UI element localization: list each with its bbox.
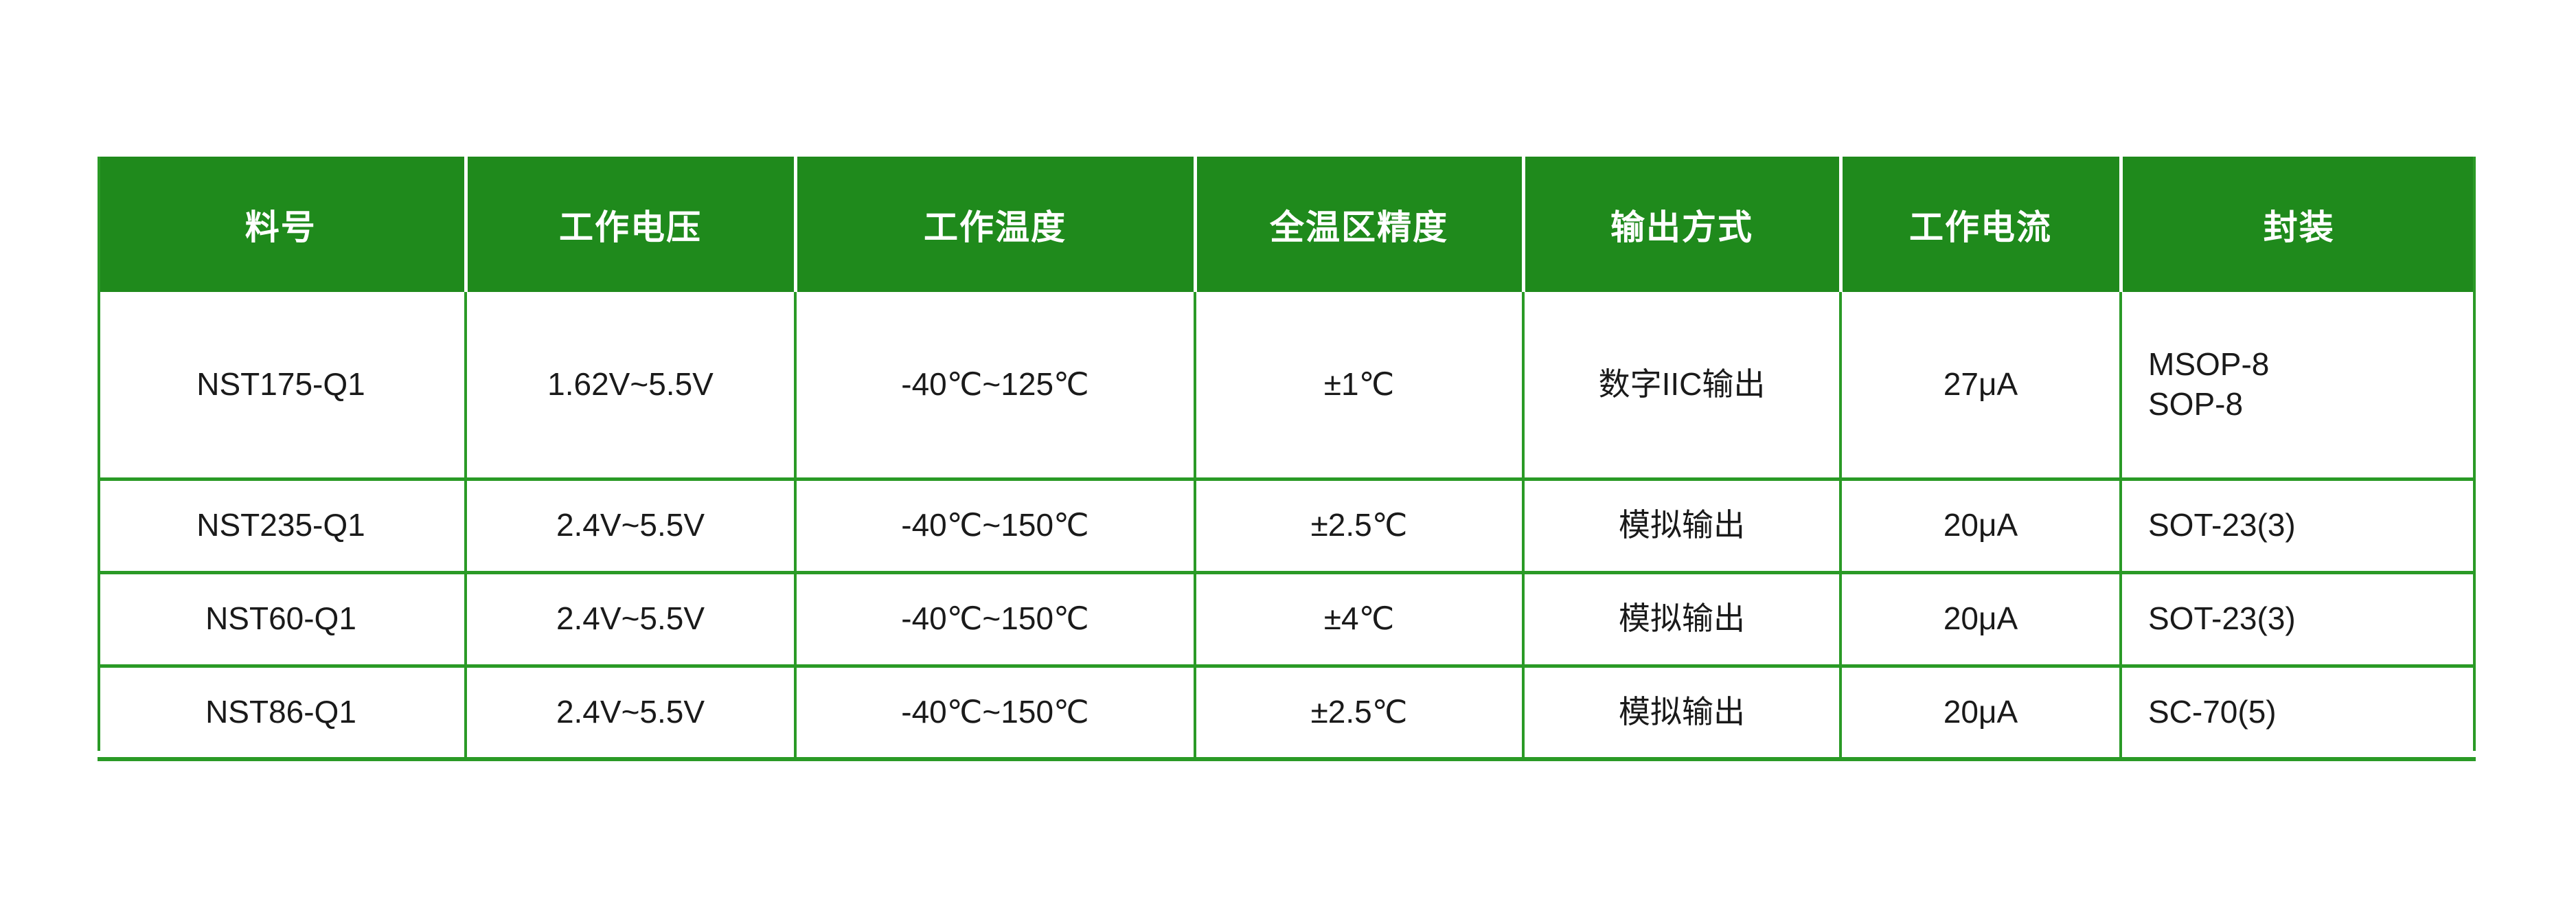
- table-header-row: 料号 工作电压 工作温度 全温区精度 输出方式 工作电流 封装: [98, 157, 2476, 292]
- cell-current: 20μA: [1840, 572, 2121, 666]
- column-header-accuracy: 全温区精度: [1195, 157, 1523, 292]
- cell-output: 模拟输出: [1523, 479, 1840, 572]
- cell-voltage: 2.4V~5.5V: [466, 479, 795, 572]
- cell-output: 数字IIC输出: [1523, 292, 1840, 479]
- cell-output: 模拟输出: [1523, 572, 1840, 666]
- spec-table: 料号 工作电压 工作温度 全温区精度 输出方式 工作电流 封装 NST175-Q…: [98, 157, 2476, 761]
- cell-accuracy: ±4℃: [1195, 572, 1523, 666]
- page-root: 料号 工作电压 工作温度 全温区精度 输出方式 工作电流 封装 NST175-Q…: [0, 0, 2576, 913]
- cell-part-number: NST175-Q1: [98, 292, 466, 479]
- column-header-package: 封装: [2121, 157, 2476, 292]
- cell-current: 20μA: [1840, 479, 2121, 572]
- column-header-voltage: 工作电压: [466, 157, 795, 292]
- cell-current: 20μA: [1840, 666, 2121, 759]
- column-header-current: 工作电流: [1840, 157, 2121, 292]
- spec-table-container: 料号 工作电压 工作温度 全温区精度 输出方式 工作电流 封装 NST175-Q…: [98, 157, 2476, 751]
- cell-package: SOT-23(3): [2121, 572, 2476, 666]
- table-row: NST60-Q1 2.4V~5.5V -40℃~150℃ ±4℃ 模拟输出 20…: [98, 572, 2476, 666]
- cell-temperature: -40℃~150℃: [795, 572, 1195, 666]
- cell-package: SOT-23(3): [2121, 479, 2476, 572]
- cell-package: MSOP-8 SOP-8: [2121, 292, 2476, 479]
- cell-voltage: 1.62V~5.5V: [466, 292, 795, 479]
- table-body: NST175-Q1 1.62V~5.5V -40℃~125℃ ±1℃ 数字IIC…: [98, 292, 2476, 759]
- column-header-output: 输出方式: [1523, 157, 1840, 292]
- cell-output: 模拟输出: [1523, 666, 1840, 759]
- cell-part-number: NST60-Q1: [98, 572, 466, 666]
- cell-package: SC-70(5): [2121, 666, 2476, 759]
- cell-temperature: -40℃~150℃: [795, 479, 1195, 572]
- column-header-temperature: 工作温度: [795, 157, 1195, 292]
- cell-temperature: -40℃~125℃: [795, 292, 1195, 479]
- table-row: NST175-Q1 1.62V~5.5V -40℃~125℃ ±1℃ 数字IIC…: [98, 292, 2476, 479]
- table-row: NST86-Q1 2.4V~5.5V -40℃~150℃ ±2.5℃ 模拟输出 …: [98, 666, 2476, 759]
- cell-accuracy: ±2.5℃: [1195, 666, 1523, 759]
- cell-voltage: 2.4V~5.5V: [466, 572, 795, 666]
- column-header-part-number: 料号: [98, 157, 466, 292]
- cell-voltage: 2.4V~5.5V: [466, 666, 795, 759]
- cell-accuracy: ±1℃: [1195, 292, 1523, 479]
- cell-temperature: -40℃~150℃: [795, 666, 1195, 759]
- table-header: 料号 工作电压 工作温度 全温区精度 输出方式 工作电流 封装: [98, 157, 2476, 292]
- cell-accuracy: ±2.5℃: [1195, 479, 1523, 572]
- table-row: NST235-Q1 2.4V~5.5V -40℃~150℃ ±2.5℃ 模拟输出…: [98, 479, 2476, 572]
- cell-current: 27μA: [1840, 292, 2121, 479]
- cell-part-number: NST235-Q1: [98, 479, 466, 572]
- cell-part-number: NST86-Q1: [98, 666, 466, 759]
